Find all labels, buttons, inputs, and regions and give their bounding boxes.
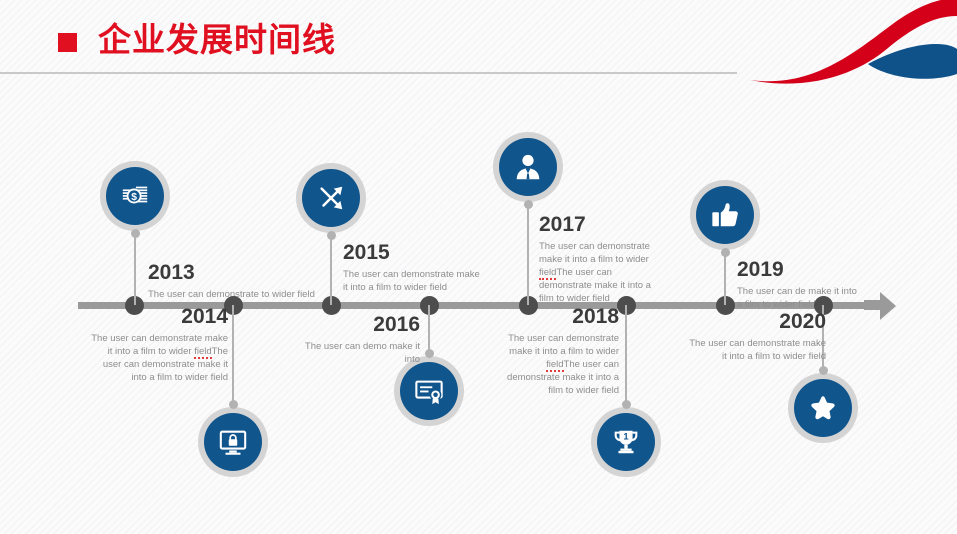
milestone-block-2014: 2014The user can demonstrate make it int… xyxy=(88,305,228,384)
milestone-block-2015: 2015The user can demonstrate make it int… xyxy=(343,241,483,294)
milestone-year-2014: 2014 xyxy=(88,305,228,329)
milestone-description-2020: The user can demonstrate make it into a … xyxy=(686,337,826,363)
spellcheck-underline: field xyxy=(539,267,556,280)
milestone-year-2018: 2018 xyxy=(494,305,619,329)
milestone-description-2016: The user can demo make it into xyxy=(290,340,420,366)
milestone-block-2016: 2016The user can demo make it into xyxy=(290,313,420,366)
milestone-connector-cap-2020 xyxy=(819,366,828,375)
money-stack-icon: $ xyxy=(106,167,164,225)
milestone-year-2013: 2013 xyxy=(148,261,333,285)
milestone-icon-badge-2019[interactable] xyxy=(690,180,760,250)
milestone-connector-cap-2014 xyxy=(229,400,238,409)
page-header: 企业发展时间线 xyxy=(0,0,957,86)
milestone-year-2016: 2016 xyxy=(290,313,420,337)
milestone-connector-cap-2018 xyxy=(622,400,631,409)
star-icon xyxy=(794,379,852,437)
milestone-description-2014: The user can demonstrate make it into a … xyxy=(88,332,228,384)
certificate-icon xyxy=(400,362,458,420)
milestone-block-2019: 2019The user can de make it into a film … xyxy=(737,258,857,311)
header-swoosh-decoration xyxy=(700,0,957,88)
milestone-connector-2015 xyxy=(330,233,332,305)
monitor-lock-icon xyxy=(204,413,262,471)
milestone-block-2017: 2017The user can demonstrate make it int… xyxy=(539,213,667,305)
milestone-connector-2013 xyxy=(134,231,136,305)
svg-text:1: 1 xyxy=(623,432,628,442)
milestone-icon-badge-2015[interactable] xyxy=(296,163,366,233)
milestone-icon-badge-2013[interactable]: $ xyxy=(100,161,170,231)
milestone-connector-cap-2013 xyxy=(131,229,140,238)
milestone-icon-badge-2014[interactable] xyxy=(198,407,268,477)
milestone-connector-2017 xyxy=(527,202,529,305)
milestone-block-2013: 2013The user can demonstrate to wider fi… xyxy=(148,261,333,301)
title-bullet-icon xyxy=(58,33,77,52)
crossed-arrows-icon xyxy=(302,169,360,227)
milestone-year-2015: 2015 xyxy=(343,241,483,265)
thumbs-up-icon xyxy=(696,186,754,244)
trophy-icon: 1 xyxy=(597,413,655,471)
milestone-icon-badge-2016[interactable] xyxy=(394,356,464,426)
milestone-description-2018: The user can demonstrate make it into a … xyxy=(494,332,619,397)
timeline-arrow-icon xyxy=(862,288,898,324)
milestone-icon-badge-2017[interactable] xyxy=(493,132,563,202)
milestone-connector-cap-2015 xyxy=(327,231,336,240)
page-title: 企业发展时间线 xyxy=(98,18,336,62)
milestone-icon-badge-2020[interactable] xyxy=(788,373,858,443)
milestone-connector-2019 xyxy=(724,250,726,305)
milestone-connector-2014 xyxy=(232,305,234,407)
milestone-icon-badge-2018[interactable]: 1 xyxy=(591,407,661,477)
milestone-description-2017: The user can demonstrate make it into a … xyxy=(539,240,667,305)
milestone-description-2019: The user can de make it into a film to w… xyxy=(737,285,857,311)
spellcheck-underline: field xyxy=(546,359,563,372)
milestone-year-2017: 2017 xyxy=(539,213,667,237)
milestone-connector-cap-2017 xyxy=(524,200,533,209)
header-divider xyxy=(0,72,737,74)
milestone-year-2020: 2020 xyxy=(686,310,826,334)
milestone-block-2018: 2018The user can demonstrate make it int… xyxy=(494,305,619,397)
businessman-icon xyxy=(499,138,557,196)
spellcheck-underline: field xyxy=(194,346,211,359)
milestone-description-2015: The user can demonstrate make it into a … xyxy=(343,268,483,294)
milestone-connector-cap-2019 xyxy=(721,248,730,257)
milestone-year-2019: 2019 xyxy=(737,258,857,282)
milestone-connector-cap-2016 xyxy=(425,349,434,358)
milestone-block-2020: 2020The user can demonstrate make it int… xyxy=(686,310,826,363)
svg-text:$: $ xyxy=(131,192,137,203)
milestone-connector-2018 xyxy=(625,305,627,407)
